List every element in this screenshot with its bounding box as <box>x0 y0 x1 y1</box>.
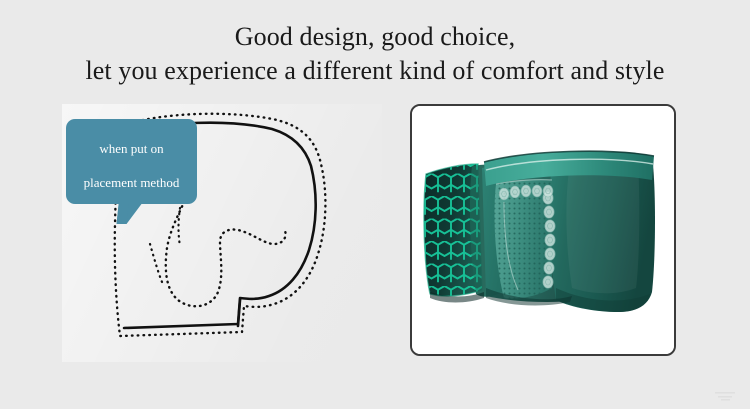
brief-interior-tick-center <box>179 208 181 246</box>
brief-interior-tick-left <box>150 244 162 282</box>
callout-line-2: placement method <box>66 176 197 189</box>
callout-bubble[interactable]: when put on placement method <box>66 119 197 204</box>
page-title: Good design, good choice, let you experi… <box>0 20 750 89</box>
headline-line-2: let you experience a different kind of c… <box>0 54 750 88</box>
watermark-mark <box>712 390 738 402</box>
headline-line-1: Good design, good choice, <box>0 20 750 54</box>
promo-banner: Good design, good choice, let you experi… <box>0 0 750 409</box>
green-boxer-brief-photo <box>412 106 674 354</box>
callout-line-1: when put on <box>66 142 197 155</box>
product-image-frame[interactable] <box>410 104 676 356</box>
brief-body-sheen <box>566 158 639 293</box>
